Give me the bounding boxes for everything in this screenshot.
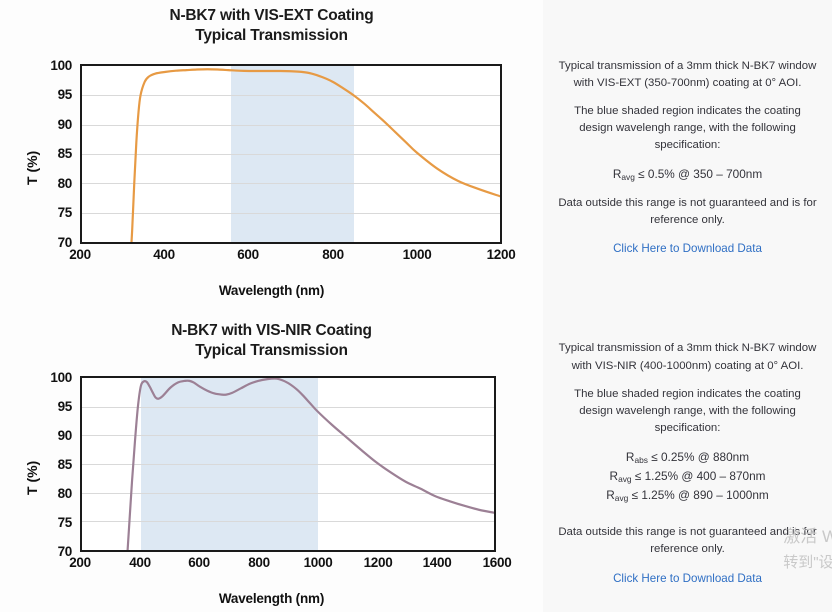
ytick-95: 95 (36, 87, 72, 102)
spec-value: ≤ 1.25% @ 890 – 1000nm (628, 488, 768, 502)
ytick-90: 90 (36, 117, 72, 132)
page-root: N-BK7 with VIS-EXT Coating Typical Trans… (0, 0, 832, 612)
specification-list: Rabs ≤ 0.25% @ 880nmRavg ≤ 1.25% @ 400 –… (557, 448, 818, 505)
xtick-1200: 1200 (474, 247, 528, 262)
spec-subscript: avg (615, 493, 629, 503)
curve-path (126, 379, 494, 550)
description-paragraph-2: The blue shaded region indicates the coa… (557, 386, 818, 437)
xtick-400: 400 (137, 247, 191, 262)
spec-value: ≤ 1.25% @ 400 – 870nm (632, 469, 766, 483)
plot-area-vis-nir (80, 376, 496, 552)
xtick-400: 400 (113, 555, 167, 570)
description-paragraph-1: Typical transmission of a 3mm thick N-BK… (557, 340, 818, 374)
ytick-90: 90 (36, 428, 72, 443)
transmission-curve-vis-nir (82, 378, 494, 550)
xtick-1000: 1000 (291, 555, 345, 570)
transmission-curve-vis-ext (82, 66, 500, 242)
download-data-link[interactable]: Click Here to Download Data (613, 572, 762, 585)
chart-cell-vis-nir: N-BK7 with VIS-NIR Coating Typical Trans… (0, 313, 543, 612)
ytick-80: 80 (36, 486, 72, 501)
plot-area-vis-ext (80, 64, 502, 244)
ytick-85: 85 (36, 457, 72, 472)
specification-line: Ravg ≤ 1.25% @ 400 – 870nm (557, 467, 818, 486)
row-vis-ext: N-BK7 with VIS-EXT Coating Typical Trans… (0, 0, 832, 313)
ytick-95: 95 (36, 399, 72, 414)
chart-title-line2: Typical Transmission (0, 26, 543, 46)
xtick-200: 200 (53, 555, 107, 570)
row-vis-nir: N-BK7 with VIS-NIR Coating Typical Trans… (0, 313, 832, 612)
xtick-800: 800 (232, 555, 286, 570)
xtick-1000: 1000 (390, 247, 444, 262)
xtick-200: 200 (53, 247, 107, 262)
chart-cell-vis-ext: N-BK7 with VIS-EXT Coating Typical Trans… (0, 0, 543, 313)
specification-list: Ravg ≤ 0.5% @ 350 – 700nm (557, 165, 818, 184)
chart-title-vis-nir: N-BK7 with VIS-NIR Coating Typical Trans… (0, 321, 543, 362)
description-paragraph-2: The blue shaded region indicates the coa… (557, 103, 818, 154)
download-data-link[interactable]: Click Here to Download Data (613, 242, 762, 255)
specification-line: Rabs ≤ 0.25% @ 880nm (557, 448, 818, 467)
spec-symbol: R (610, 469, 619, 483)
xtick-600: 600 (221, 247, 275, 262)
x-axis-label: Wavelength (nm) (0, 591, 543, 606)
ytick-75: 75 (36, 205, 72, 220)
y-axis-label: T (%) (24, 151, 40, 185)
description-paragraph-3: Data outside this range is not guarantee… (557, 195, 818, 229)
chart-title-line1: N-BK7 with VIS-EXT Coating (169, 7, 373, 24)
xtick-600: 600 (172, 555, 226, 570)
spec-subscript: avg (621, 172, 635, 182)
spec-value: ≤ 0.25% @ 880nm (648, 450, 749, 464)
spec-symbol: R (606, 488, 615, 502)
ytick-75: 75 (36, 515, 72, 530)
description-panel-vis-nir: Typical transmission of a 3mm thick N-BK… (543, 313, 832, 612)
xtick-800: 800 (306, 247, 360, 262)
description-paragraph-3: Data outside this range is not guarantee… (557, 524, 818, 558)
ytick-100: 100 (36, 58, 72, 73)
ytick-100: 100 (36, 370, 72, 385)
spec-subscript: avg (618, 474, 632, 484)
chart-title-line2: Typical Transmission (0, 341, 543, 361)
xtick-1200: 1200 (351, 555, 405, 570)
ytick-80: 80 (36, 176, 72, 191)
description-paragraph-1: Typical transmission of a 3mm thick N-BK… (557, 58, 818, 92)
ytick-85: 85 (36, 146, 72, 161)
xtick-1400: 1400 (410, 555, 464, 570)
specification-line: Ravg ≤ 1.25% @ 890 – 1000nm (557, 486, 818, 505)
spec-value: ≤ 0.5% @ 350 – 700nm (635, 167, 762, 181)
xtick-1600: 1600 (470, 555, 524, 570)
x-axis-label: Wavelength (nm) (0, 283, 543, 298)
description-panel-vis-ext: Typical transmission of a 3mm thick N-BK… (543, 0, 832, 313)
spec-subscript: abs (634, 455, 648, 465)
chart-title-vis-ext: N-BK7 with VIS-EXT Coating Typical Trans… (0, 6, 543, 47)
specification-line: Ravg ≤ 0.5% @ 350 – 700nm (557, 165, 818, 184)
y-axis-label: T (%) (24, 461, 40, 495)
curve-path (130, 69, 500, 242)
chart-title-line1: N-BK7 with VIS-NIR Coating (171, 322, 372, 339)
